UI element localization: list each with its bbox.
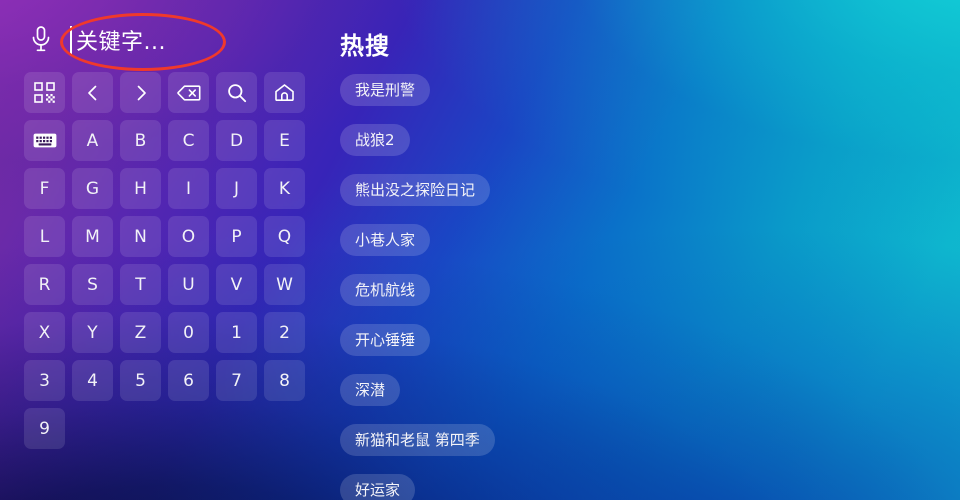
key-a[interactable]: A xyxy=(72,120,113,161)
key-label: 9 xyxy=(39,419,50,439)
key-8[interactable]: 8 xyxy=(264,360,305,401)
key-label: P xyxy=(231,227,241,247)
key-j[interactable]: J xyxy=(216,168,257,209)
hot-search-title: 热搜 xyxy=(340,26,390,61)
key-label: M xyxy=(85,227,100,247)
search-icon xyxy=(227,83,247,103)
hot-search-chip-row: 深潜 xyxy=(340,374,495,424)
key-label: O xyxy=(182,227,195,247)
keyboard-row: ABCDE xyxy=(24,120,312,161)
search-text-caret xyxy=(70,26,72,56)
backspace-icon xyxy=(177,84,201,102)
keyboard-row: RSTUVW xyxy=(24,264,312,305)
key-label: N xyxy=(134,227,147,247)
hot-search-chip[interactable]: 新猫和老鼠 第四季 xyxy=(340,424,495,456)
key-label: V xyxy=(231,275,243,295)
key-2[interactable]: 2 xyxy=(264,312,305,353)
keyboard-row: LMNOPQ xyxy=(24,216,312,257)
key-1[interactable]: 1 xyxy=(216,312,257,353)
key-b[interactable]: B xyxy=(120,120,161,161)
key-label: S xyxy=(87,275,98,295)
key-t[interactable]: T xyxy=(120,264,161,305)
on-screen-keyboard[interactable]: ABCDEFGHIJKLMNOPQRSTUVWXYZ0123456789 xyxy=(24,72,312,456)
key-q[interactable]: Q xyxy=(264,216,305,257)
hot-search-chip[interactable]: 战狼2 xyxy=(340,124,410,156)
key-p[interactable]: P xyxy=(216,216,257,257)
hot-search-chip[interactable]: 深潜 xyxy=(340,374,400,406)
keyboard-row: 9 xyxy=(24,408,312,449)
key-label: T xyxy=(135,275,145,295)
key-label: A xyxy=(87,131,99,151)
key-qr-code[interactable] xyxy=(24,72,65,113)
key-label: W xyxy=(276,275,293,295)
key-label: G xyxy=(86,179,99,199)
hot-search-chip-list: 我是刑警战狼2熊出没之探险日记小巷人家危机航线开心锤锤深潜新猫和老鼠 第四季好运… xyxy=(340,74,495,500)
keyboard-row xyxy=(24,72,312,113)
keyboard-row: FGHIJK xyxy=(24,168,312,209)
hot-search-chip[interactable]: 熊出没之探险日记 xyxy=(340,174,490,206)
key-chevron-right[interactable] xyxy=(120,72,161,113)
key-search[interactable] xyxy=(216,72,257,113)
hot-search-panel: 热搜 我是刑警战狼2熊出没之探险日记小巷人家危机航线开心锤锤深潜新猫和老鼠 第四… xyxy=(340,0,760,500)
chevron-left-icon xyxy=(85,84,101,102)
hot-search-chip-row: 我是刑警 xyxy=(340,74,495,124)
search-screen: 关键字... xyxy=(0,0,960,500)
hot-search-chip-row: 好运家 xyxy=(340,474,495,500)
hot-search-chip[interactable]: 好运家 xyxy=(340,474,415,500)
hot-search-chip-row: 开心锤锤 xyxy=(340,324,495,374)
chevron-right-icon xyxy=(133,84,149,102)
key-3[interactable]: 3 xyxy=(24,360,65,401)
keyboard-row: XYZ012 xyxy=(24,312,312,353)
qr-code-icon xyxy=(34,82,55,103)
key-f[interactable]: F xyxy=(24,168,65,209)
key-label: 3 xyxy=(39,371,50,391)
key-s[interactable]: S xyxy=(72,264,113,305)
key-y[interactable]: Y xyxy=(72,312,113,353)
search-bar: 关键字... xyxy=(0,0,330,68)
key-0[interactable]: 0 xyxy=(168,312,209,353)
hot-search-chip-row: 战狼2 xyxy=(340,124,495,174)
key-z[interactable]: Z xyxy=(120,312,161,353)
key-label: B xyxy=(135,131,147,151)
key-k[interactable]: K xyxy=(264,168,305,209)
key-w[interactable]: W xyxy=(264,264,305,305)
hot-search-chip-row: 熊出没之探险日记 xyxy=(340,174,495,224)
key-o[interactable]: O xyxy=(168,216,209,257)
key-label: X xyxy=(39,323,51,343)
key-label: 7 xyxy=(231,371,242,391)
hot-search-chip[interactable]: 危机航线 xyxy=(340,274,430,306)
hot-search-chip-row: 小巷人家 xyxy=(340,224,495,274)
key-label: U xyxy=(182,275,194,295)
key-label: Y xyxy=(87,323,97,343)
key-i[interactable]: I xyxy=(168,168,209,209)
key-chevron-left[interactable] xyxy=(72,72,113,113)
key-n[interactable]: N xyxy=(120,216,161,257)
key-9[interactable]: 9 xyxy=(24,408,65,449)
microphone-icon[interactable] xyxy=(28,24,54,54)
key-h[interactable]: H xyxy=(120,168,161,209)
key-r[interactable]: R xyxy=(24,264,65,305)
key-label: 4 xyxy=(87,371,98,391)
key-u[interactable]: U xyxy=(168,264,209,305)
key-label: D xyxy=(230,131,243,151)
key-v[interactable]: V xyxy=(216,264,257,305)
key-label: 8 xyxy=(279,371,290,391)
home-icon xyxy=(274,83,295,102)
key-label: 2 xyxy=(279,323,290,343)
key-x[interactable]: X xyxy=(24,312,65,353)
key-5[interactable]: 5 xyxy=(120,360,161,401)
keyboard-icon xyxy=(33,132,57,149)
key-label: 6 xyxy=(183,371,194,391)
hot-search-chip[interactable]: 小巷人家 xyxy=(340,224,430,256)
key-label: L xyxy=(40,227,49,247)
key-l[interactable]: L xyxy=(24,216,65,257)
key-label: R xyxy=(39,275,51,295)
key-m[interactable]: M xyxy=(72,216,113,257)
hot-search-chip-row: 新猫和老鼠 第四季 xyxy=(340,424,495,474)
key-label: K xyxy=(279,179,290,199)
key-label: 5 xyxy=(135,371,146,391)
key-label: Z xyxy=(135,323,147,343)
hot-search-chip[interactable]: 我是刑警 xyxy=(340,74,430,106)
hot-search-chip[interactable]: 开心锤锤 xyxy=(340,324,430,356)
key-home[interactable] xyxy=(264,72,305,113)
key-label: I xyxy=(186,179,191,199)
key-label: E xyxy=(279,131,290,151)
key-7[interactable]: 7 xyxy=(216,360,257,401)
key-e[interactable]: E xyxy=(264,120,305,161)
key-label: H xyxy=(134,179,147,199)
key-label: 0 xyxy=(183,323,194,343)
key-label: C xyxy=(183,131,195,151)
key-d[interactable]: D xyxy=(216,120,257,161)
key-g[interactable]: G xyxy=(72,168,113,209)
hot-search-chip-row: 危机航线 xyxy=(340,274,495,324)
key-6[interactable]: 6 xyxy=(168,360,209,401)
key-label: Q xyxy=(278,227,291,247)
key-4[interactable]: 4 xyxy=(72,360,113,401)
key-label: F xyxy=(40,179,50,199)
keyboard-row: 345678 xyxy=(24,360,312,401)
search-input[interactable]: 关键字... xyxy=(76,24,166,56)
key-label: 1 xyxy=(231,323,242,343)
key-label: J xyxy=(234,179,239,199)
key-backspace[interactable] xyxy=(168,72,209,113)
key-keyboard[interactable] xyxy=(24,120,65,161)
key-c[interactable]: C xyxy=(168,120,209,161)
